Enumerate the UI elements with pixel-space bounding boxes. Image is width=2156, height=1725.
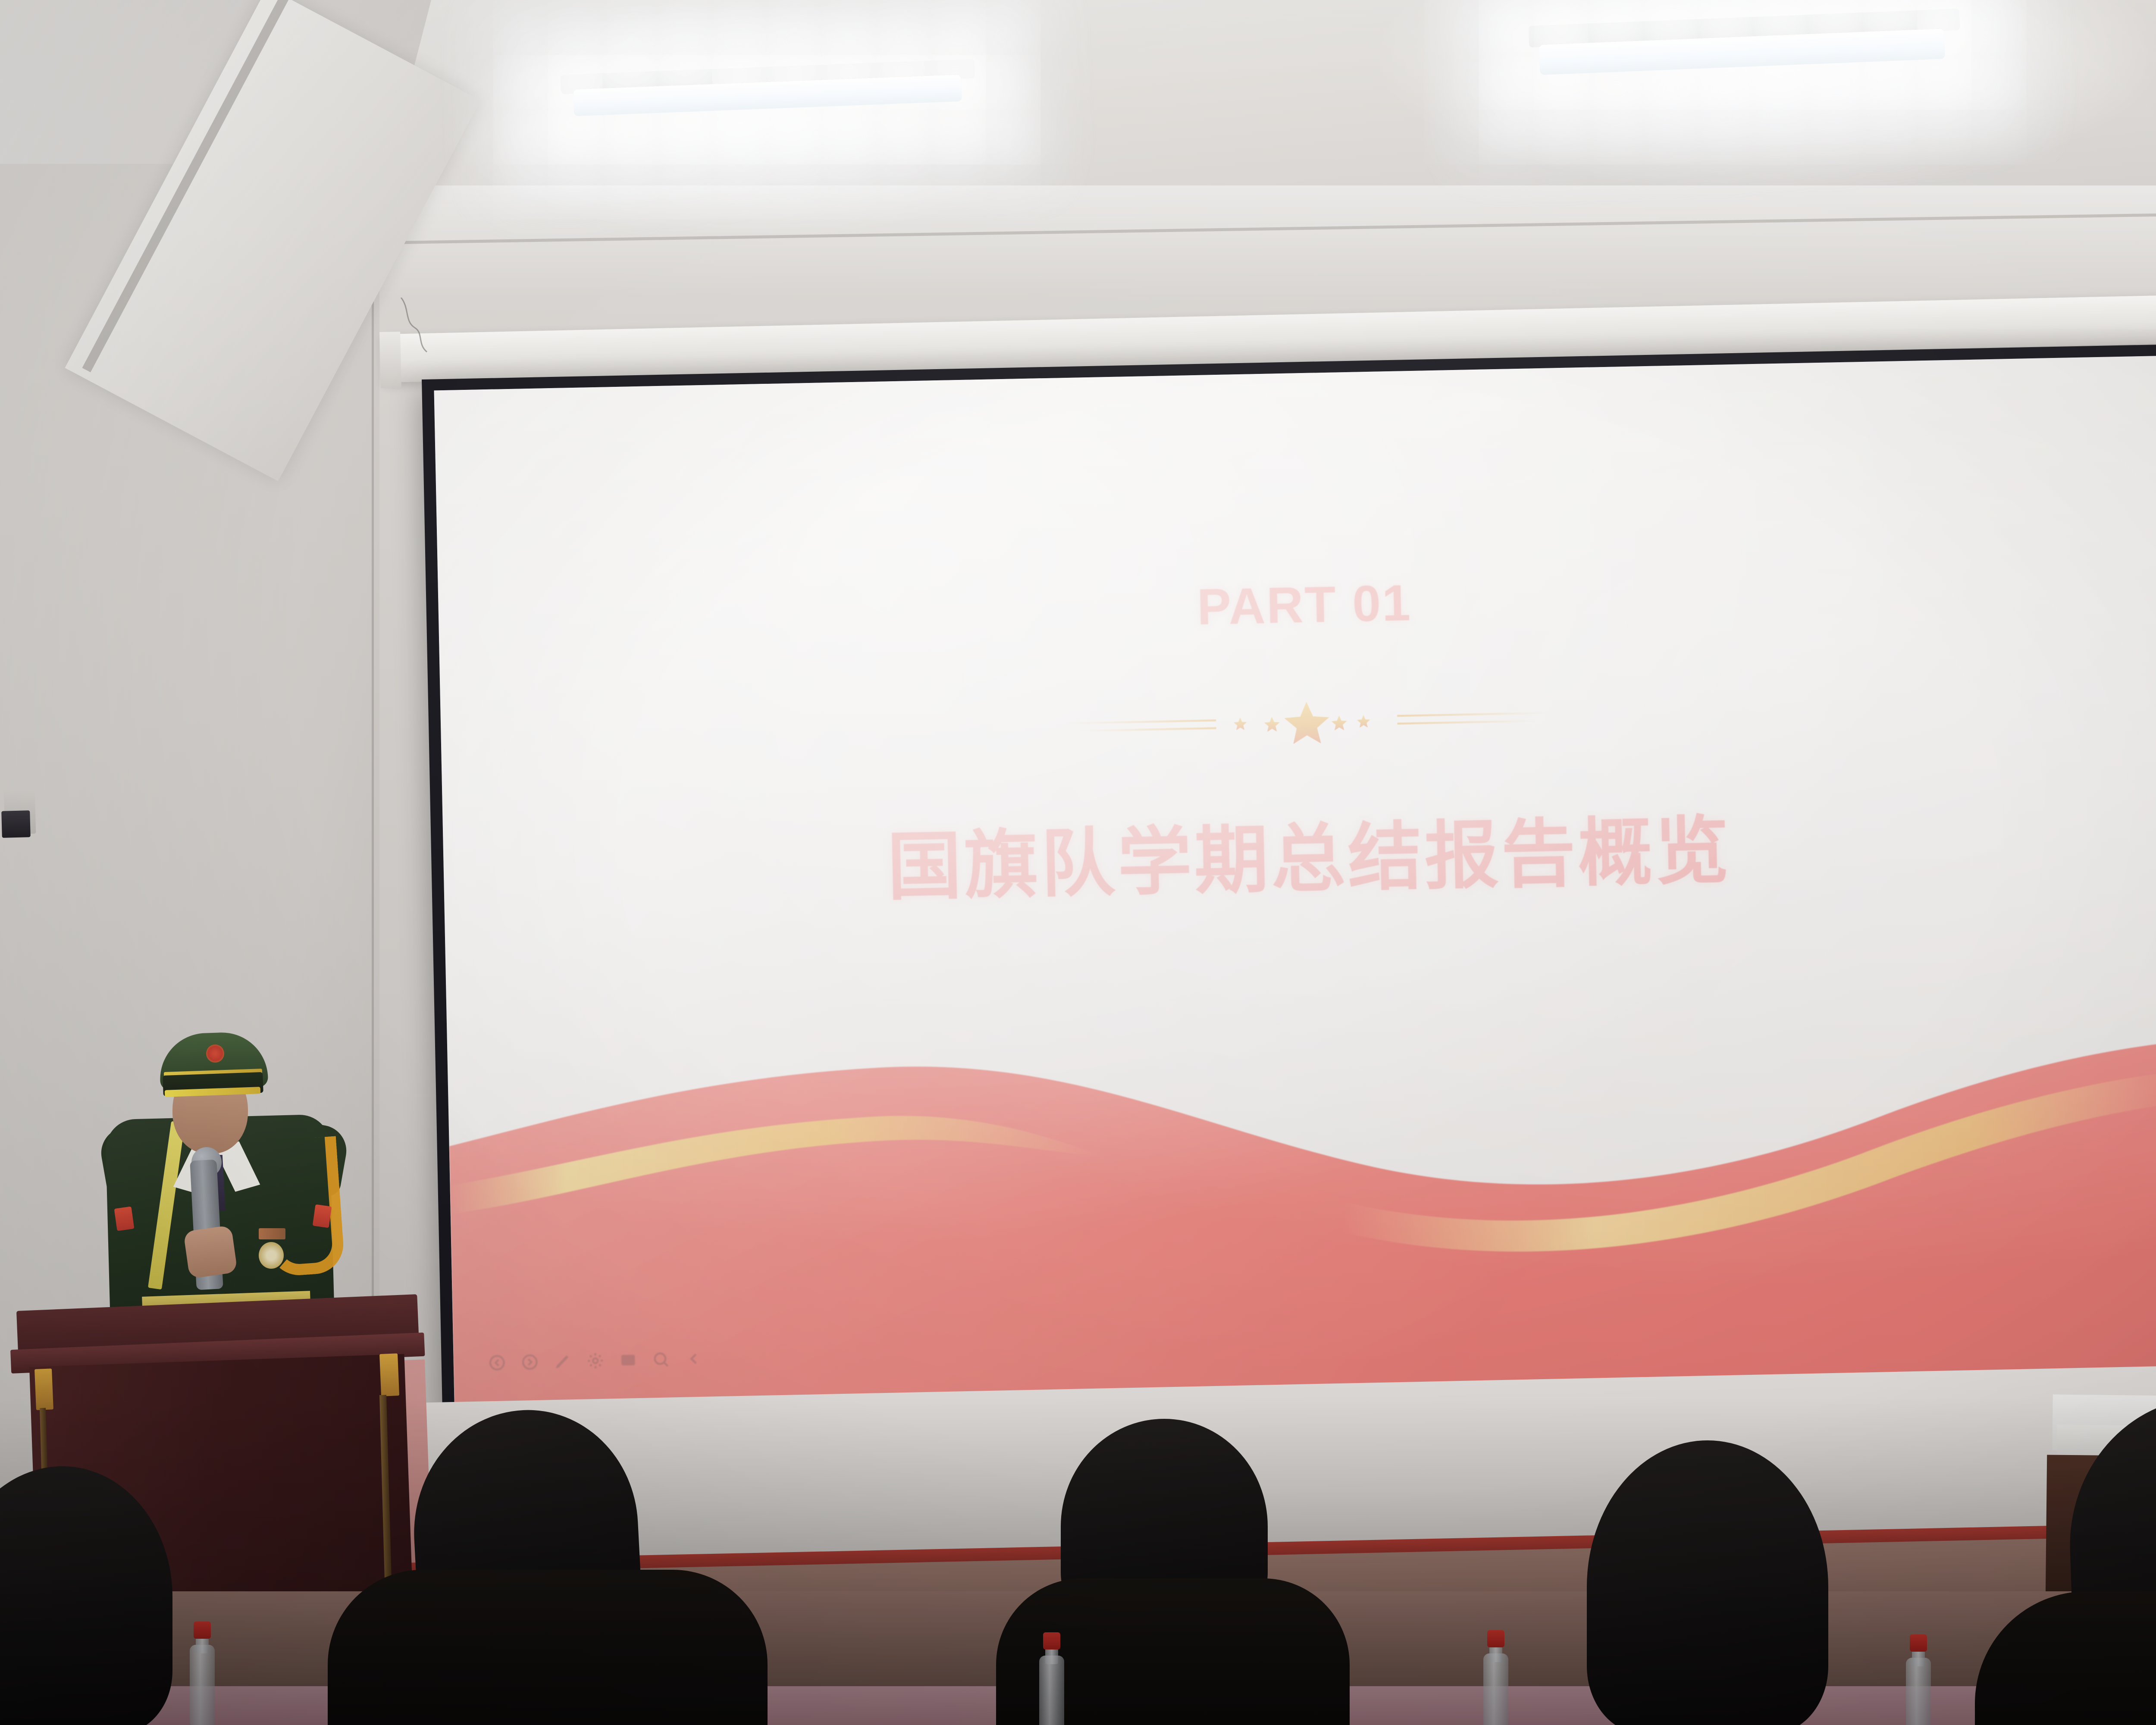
bottle-cap xyxy=(1487,1630,1504,1647)
slide-wave-decoration xyxy=(445,922,2156,1403)
ceiling-wire xyxy=(397,298,453,354)
laser-pointer-icon[interactable] xyxy=(586,1352,605,1370)
speaker-hand xyxy=(183,1225,238,1279)
wall-socket-face xyxy=(1,810,31,838)
slide-grid-icon[interactable] xyxy=(619,1351,638,1369)
photo-scene: PART 01 xyxy=(0,0,2156,1725)
star-divider xyxy=(1060,691,1553,749)
speaker-ribbon-bar xyxy=(259,1228,285,1239)
zoom-icon[interactable] xyxy=(652,1350,671,1368)
bottle-cap xyxy=(194,1621,211,1639)
podium-gold-trim-right xyxy=(379,1353,399,1396)
wall-highlight xyxy=(379,185,2156,298)
bottle-cap xyxy=(1043,1632,1060,1650)
projection-screen: PART 01 xyxy=(422,344,2156,1414)
speaker-cap-emblem xyxy=(206,1044,224,1063)
bottle-cap xyxy=(1910,1634,1927,1652)
podium-gold-trim-left xyxy=(34,1368,53,1410)
speaker-flag-patch-left xyxy=(114,1206,135,1231)
speaker-medal xyxy=(259,1242,284,1269)
audience-head xyxy=(1587,1440,1828,1725)
projected-slide: PART 01 xyxy=(434,356,2156,1403)
pen-tool-icon[interactable] xyxy=(554,1352,572,1371)
slide-title: 国旗队学期总结报告概览 xyxy=(442,781,2156,924)
audience-shoulders xyxy=(328,1570,768,1725)
slide-part-label: PART 01 xyxy=(438,558,2156,652)
more-options-icon[interactable] xyxy=(685,1349,703,1368)
previous-slide-icon[interactable] xyxy=(488,1353,507,1372)
slide-canvas: PART 01 xyxy=(434,356,2156,1403)
speaker-flag-patch-right xyxy=(313,1204,332,1228)
next-slide-icon[interactable] xyxy=(521,1353,539,1371)
